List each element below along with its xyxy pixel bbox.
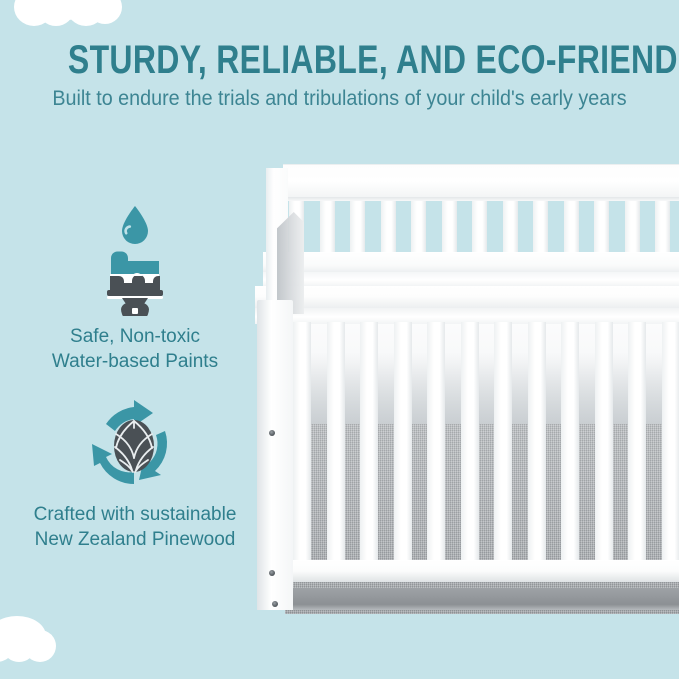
crib-front-slat: [461, 322, 479, 562]
crib-bed-skirt-hem: [285, 588, 679, 610]
feature-label: Safe, Non-toxic Water-based Paints: [10, 324, 260, 374]
crib-back-slat: [442, 201, 457, 255]
crib-front-slat: [528, 322, 546, 562]
crib-back-slat: [472, 201, 487, 255]
crib-front-slat: [327, 322, 345, 562]
crib-corner-post-lower: [257, 300, 293, 610]
crib-back-bottom-rail: [263, 252, 679, 274]
crib-back-slat: [533, 201, 548, 255]
crib-front-slat: [662, 322, 679, 562]
crib-front-slat: [628, 322, 646, 562]
feature-sustainable-pinewood: Crafted with sustainable New Zealand Pin…: [10, 398, 260, 552]
crib-back-top-rail: [283, 164, 679, 201]
recycle-pinecone-icon: [10, 398, 260, 494]
crib-back-slat: [655, 201, 670, 255]
crib-back-slat: [411, 201, 426, 255]
crib-back-slat: [381, 201, 396, 255]
crib-front-slat: [595, 322, 613, 562]
page-title: STURDY, RELIABLE, AND ECO-FRIENDLY: [68, 38, 611, 82]
crib-back-slat: [564, 201, 579, 255]
page-subtitle: Built to endure the trials and tribulati…: [20, 86, 658, 112]
crib-front-slats: [255, 322, 679, 572]
feature-nontoxic-paint: Safe, Non-toxic Water-based Paints: [10, 198, 260, 374]
crib-front-slat: [293, 322, 311, 562]
crib-front-slat: [394, 322, 412, 562]
crib-corner-post-shadow: [277, 212, 304, 314]
crib-front-slat: [494, 322, 512, 562]
crib-front-bottom-rail: [265, 560, 679, 582]
crib-front-slat: [360, 322, 378, 562]
crib-screw-hole: [269, 570, 275, 576]
crib-back-slat: [594, 201, 609, 255]
crib-screw-hole: [269, 430, 275, 436]
infographic-canvas: STURDY, RELIABLE, AND ECO-FRIENDLY Built…: [0, 0, 679, 679]
crib-back-slat: [320, 201, 335, 255]
crib-screw-hole: [272, 601, 278, 607]
crib-front-slat: [561, 322, 579, 562]
crib-back-slats: [283, 201, 679, 255]
cloud-decoration-top: [14, 0, 122, 30]
paint-brush-water-drop-icon: [10, 198, 260, 316]
crib-back-slat: [503, 201, 518, 255]
crib-back-slat: [350, 201, 365, 255]
cloud-decoration-bottom: [0, 616, 64, 664]
crib-front-slat: [427, 322, 445, 562]
crib-back-slat: [625, 201, 640, 255]
feature-label: Crafted with sustainable New Zealand Pin…: [10, 502, 260, 552]
